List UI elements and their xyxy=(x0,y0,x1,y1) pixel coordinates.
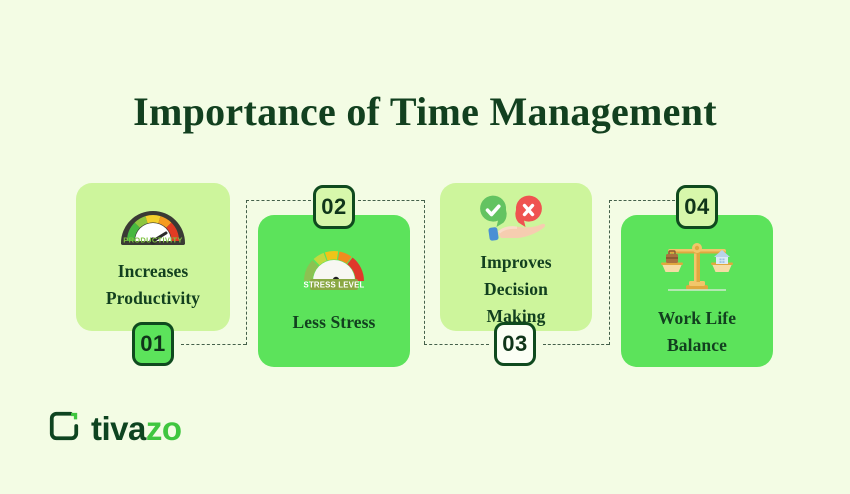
card-4-label-line2: Balance xyxy=(621,332,773,359)
card-1-label-line1: Increases xyxy=(76,258,230,285)
stress-level-gauge-icon: STRESS LEVEL xyxy=(298,245,370,291)
tivazo-bracket-logo-icon xyxy=(48,410,80,447)
brand-logo[interactable]: tivazo xyxy=(48,410,182,447)
card-4-step-badge[interactable]: 04 xyxy=(676,185,718,229)
card-1-step-badge[interactable]: 01 xyxy=(132,322,174,366)
connector-03-04-bottom xyxy=(543,344,609,345)
connector-02-03-bottom xyxy=(424,344,489,345)
card-work-life-balance[interactable]: Work Life Balance xyxy=(621,215,773,367)
infographic-canvas: Importance of Time Management xyxy=(0,0,850,494)
productivity-gauge-icon: PRODUCTIVITY xyxy=(117,197,189,245)
connector-02-03-vertical xyxy=(424,200,425,344)
stress-level-gauge-caption: STRESS LEVEL xyxy=(304,281,365,290)
card-3-label-line1: Improves xyxy=(440,249,592,276)
connector-03-04-vertical xyxy=(609,200,610,345)
card-4-step-number: 04 xyxy=(684,194,709,220)
card-3-label-line2: Decision xyxy=(440,276,592,303)
connector-01-02-top xyxy=(246,200,311,201)
card-2-step-badge[interactable]: 02 xyxy=(313,185,355,229)
card-3-step-badge[interactable]: 03 xyxy=(494,322,536,366)
card-1-label-line2: Productivity xyxy=(76,285,230,312)
productivity-gauge-caption: PRODUCTIVITY xyxy=(123,236,182,245)
connector-02-03-top xyxy=(358,200,424,201)
logo-text-accent: zo xyxy=(146,410,182,447)
card-3-step-number: 03 xyxy=(502,331,527,357)
balance-scale-work-home-icon xyxy=(658,237,736,293)
connector-01-02-vertical xyxy=(246,200,247,345)
card-improves-decision-making[interactable]: Improves Decision Making xyxy=(440,183,592,331)
card-increases-productivity[interactable]: PRODUCTIVITY Increases Productivity xyxy=(76,183,230,331)
card-1-step-number: 01 xyxy=(140,331,165,357)
page-title: Importance of Time Management xyxy=(0,88,850,135)
card-2-step-number: 02 xyxy=(321,194,346,220)
card-4-label-line1: Work Life xyxy=(621,305,773,332)
hand-decision-check-cross-icon xyxy=(476,193,556,243)
connector-03-04-top xyxy=(609,200,675,201)
card-2-label-line1: Less Stress xyxy=(258,309,410,336)
logo-wordmark: tivazo xyxy=(91,412,182,445)
card-less-stress[interactable]: STRESS LEVEL Less Stress xyxy=(258,215,410,367)
connector-01-02-bottom xyxy=(181,344,246,345)
logo-text-primary: tiva xyxy=(91,410,146,447)
